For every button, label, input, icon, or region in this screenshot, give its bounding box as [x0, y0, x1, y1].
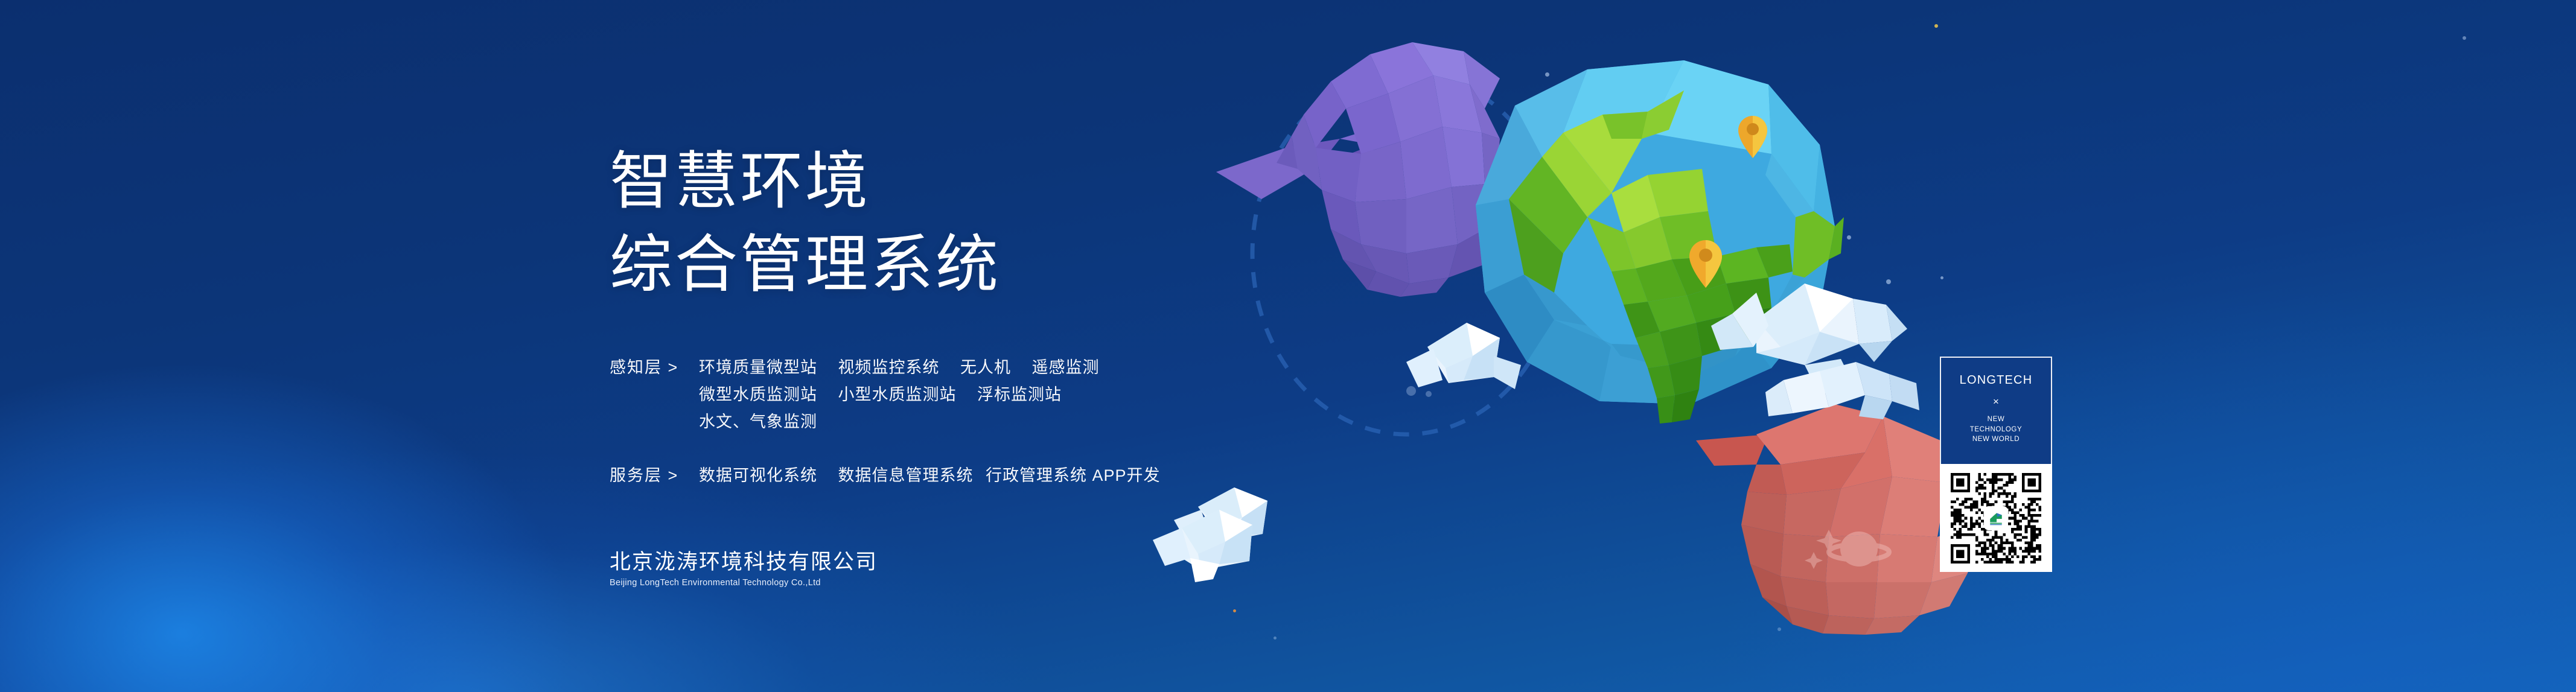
layer-row-service: 服务层 > 数据可视化系统 数据信息管理系统 行政管理系统 APP开发 — [610, 462, 1394, 489]
layer-item[interactable]: 视频监控系统 — [838, 358, 940, 376]
cross-icon: × — [1941, 396, 2051, 407]
layer-list: 感知层 > 环境质量微型站 视频监控系统 无人机 遥感监测 微型水质监测站 小型… — [610, 354, 1394, 489]
layer-line: 微型水质监测站 小型水质监测站 浮标监测站 — [699, 381, 1394, 408]
qr-brand-block: LONGTECH × NEW TECHNOLOGY NEW WORLD — [1941, 373, 2051, 445]
company-name-en: Beijing LongTech Environmental Technolog… — [610, 577, 878, 590]
layer-line: 数据可视化系统 数据信息管理系统 行政管理系统 APP开发 — [699, 462, 1394, 489]
layer-items: 环境质量微型站 视频监控系统 无人机 遥感监测 微型水质监测站 小型水质监测站 … — [699, 354, 1394, 436]
layer-item[interactable]: 遥感监测 — [1032, 358, 1100, 376]
qr-card-header: LONGTECH × NEW TECHNOLOGY NEW WORLD — [1940, 357, 2052, 465]
layer-item[interactable]: 水文、气象监测 — [699, 413, 817, 431]
hero-copy: 智慧环境 综合管理系统 感知层 > 环境质量微型站 视频监控系统 无人机 遥感监… — [610, 140, 1394, 516]
page-title-line2: 综合管理系统 — [610, 223, 1394, 306]
company-signature: 北京泷涛环境科技有限公司 Beijing LongTech Environmen… — [610, 549, 878, 590]
layer-item[interactable]: 环境质量微型站 — [699, 358, 817, 376]
layer-label: 服务层 > — [610, 462, 699, 489]
company-name-cn: 北京泷涛环境科技有限公司 — [610, 549, 878, 576]
layer-line: 水文、气象监测 — [699, 408, 1394, 436]
layer-row-perception: 感知层 > 环境质量微型站 视频监控系统 无人机 遥感监测 微型水质监测站 小型… — [610, 354, 1394, 436]
brand-name: LONGTECH — [1941, 373, 2051, 387]
layer-items: 数据可视化系统 数据信息管理系统 行政管理系统 APP开发 — [699, 462, 1394, 489]
layer-item[interactable]: 小型水质监测站 — [838, 386, 957, 404]
page-title-line1: 智慧环境 — [610, 140, 1394, 223]
layer-line: 环境质量微型站 视频监控系统 无人机 遥感监测 — [699, 354, 1394, 381]
tagline-line-3: NEW WORLD — [1941, 434, 2051, 445]
qr-code-icon[interactable] — [1951, 473, 2041, 563]
brand-tagline: NEW TECHNOLOGY NEW WORLD — [1941, 414, 2051, 445]
hero-banner: 智慧环境 综合管理系统 感知层 > 环境质量微型站 视频监控系统 无人机 遥感监… — [0, 0, 2576, 692]
layer-item[interactable]: 浮标监测站 — [977, 386, 1062, 404]
layer-item[interactable]: 微型水质监测站 — [699, 386, 817, 404]
longtech-logo-icon — [1988, 510, 2004, 526]
layer-item[interactable]: 数据信息管理系统 — [838, 466, 974, 484]
layer-item[interactable]: 数据可视化系统 — [699, 466, 817, 484]
tagline-line-1: NEW — [1941, 414, 2051, 425]
qr-card[interactable]: LONGTECH × NEW TECHNOLOGY NEW WORLD — [1940, 357, 2052, 572]
layer-item[interactable]: 无人机 — [960, 358, 1011, 376]
qr-center-logo-icon — [1985, 507, 2007, 529]
low-poly-earth-icon — [1476, 60, 1844, 424]
qr-code-panel[interactable] — [1940, 464, 2052, 572]
tagline-line-2: TECHNOLOGY — [1941, 425, 2051, 435]
layer-label: 感知层 > — [610, 354, 699, 381]
cloud-icon — [1406, 323, 1521, 389]
layer-item[interactable]: 行政管理系统 APP开发 — [986, 466, 1161, 484]
